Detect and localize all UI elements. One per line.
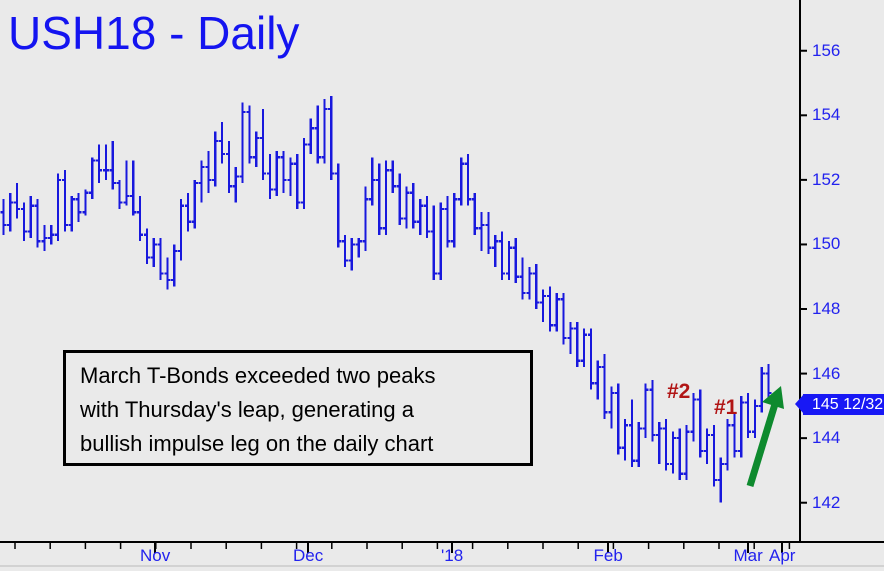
y-axis-tick-label: 152 bbox=[812, 170, 840, 190]
x-axis-tick-label: '18 bbox=[441, 546, 463, 566]
y-axis-tick-label: 146 bbox=[812, 364, 840, 384]
y-axis-tick-label: 142 bbox=[812, 493, 840, 513]
peak-marker-2: #2 bbox=[667, 380, 690, 404]
y-axis-tick-label: 150 bbox=[812, 234, 840, 254]
last-price-tag: 145 12/32 bbox=[803, 394, 884, 415]
y-axis-tick-label: 144 bbox=[812, 428, 840, 448]
annotation-line-1: March T-Bonds exceeded two peaks bbox=[80, 359, 435, 393]
y-axis-tick-label: 148 bbox=[812, 299, 840, 319]
x-axis-tick-label: Feb bbox=[594, 546, 623, 566]
x-axis-tick-label: Apr bbox=[769, 546, 795, 566]
chart-page: USH18 - Daily 156154152150148146144142 N… bbox=[0, 0, 884, 571]
x-axis-tick-label: Dec bbox=[293, 546, 323, 566]
annotation-line-3: bullish impulse leg on the daily chart bbox=[80, 427, 433, 461]
annotation-callout-box: March T-Bonds exceeded two peaks with Th… bbox=[63, 350, 533, 466]
x-axis-tick-label: Mar bbox=[734, 546, 763, 566]
y-axis-tick-label: 154 bbox=[812, 105, 840, 125]
x-axis-tick-label: Nov bbox=[140, 546, 170, 566]
price-chart-canvas bbox=[0, 0, 884, 571]
y-axis-tick-label: 156 bbox=[812, 41, 840, 61]
peak-marker-1: #1 bbox=[714, 396, 737, 420]
annotation-line-2: with Thursday's leap, generating a bbox=[80, 393, 414, 427]
